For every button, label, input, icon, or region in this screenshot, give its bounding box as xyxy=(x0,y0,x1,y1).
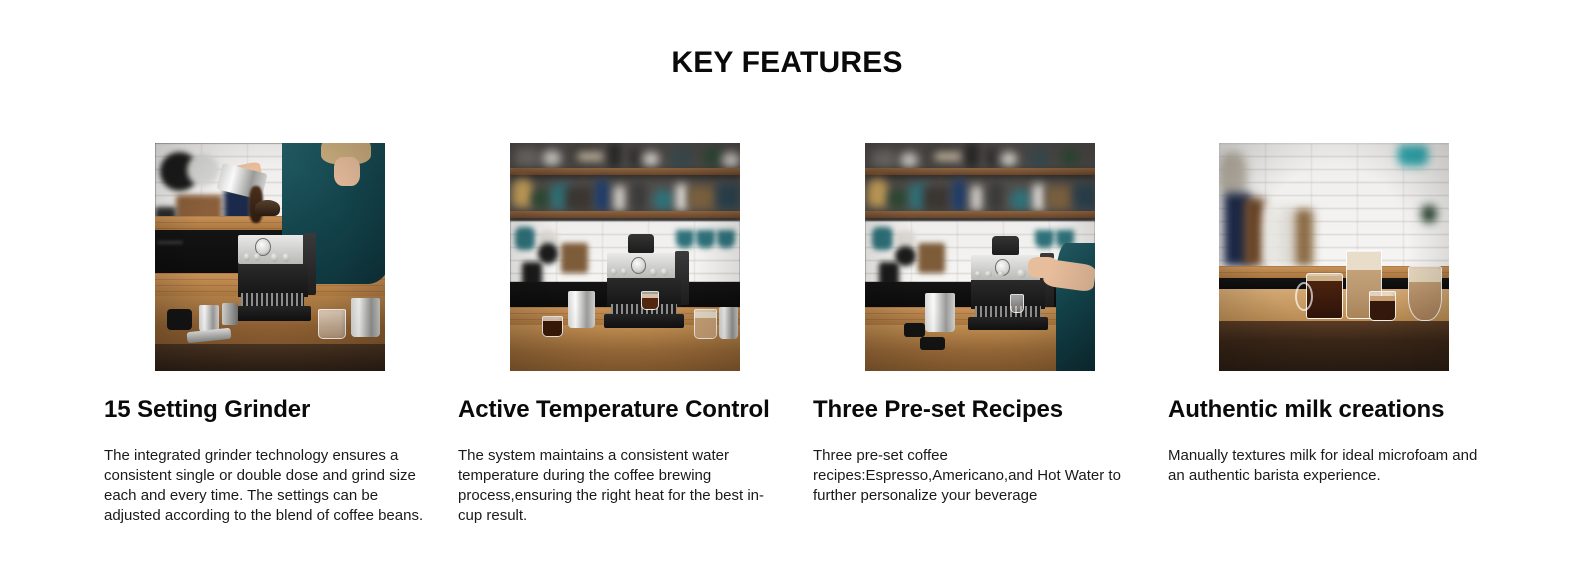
feature-card-2: Active Temperature Control The system ma… xyxy=(458,143,812,526)
feature-body-1: The integrated grinder technology ensure… xyxy=(104,446,432,526)
page-title: KEY FEATURES xyxy=(0,46,1574,80)
feature-image-2 xyxy=(510,143,740,371)
feature-card-3: Three Pre-set Recipes Three pre-set coff… xyxy=(813,143,1167,506)
feature-heading-1: 15 Setting Grinder xyxy=(104,395,458,425)
feature-heading-4: Authentic milk creations xyxy=(1168,395,1522,425)
feature-body-4: Manually textures milk for ideal microfo… xyxy=(1168,446,1498,486)
feature-body-2: The system maintains a consistent water … xyxy=(458,446,780,526)
feature-image-1 xyxy=(155,143,385,371)
feature-body-3: Three pre-set coffee recipes:Espresso,Am… xyxy=(813,446,1140,506)
feature-image-3 xyxy=(865,143,1095,371)
feature-heading-3: Three Pre-set Recipes xyxy=(813,395,1167,425)
feature-image-4 xyxy=(1219,143,1449,371)
feature-card-4: Authentic milk creations Manually textur… xyxy=(1168,143,1522,486)
feature-heading-2: Active Temperature Control xyxy=(458,395,812,425)
feature-card-1: 15 Setting Grinder The integrated grinde… xyxy=(104,143,458,526)
